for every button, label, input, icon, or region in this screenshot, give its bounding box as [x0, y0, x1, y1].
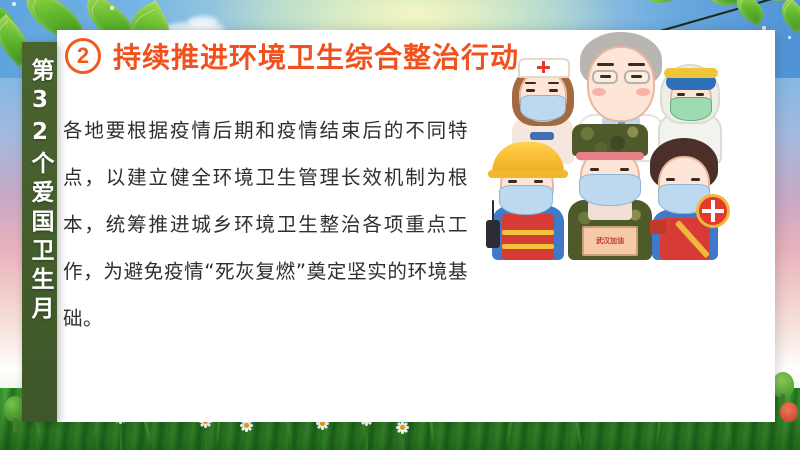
- doctor-eye: [631, 75, 642, 78]
- dew-drop-icon: [788, 36, 791, 39]
- dew-drop-icon: [12, 2, 16, 6]
- face-mask-icon: [579, 174, 641, 206]
- face-mask-icon: [520, 95, 566, 121]
- nurse-brow: [525, 82, 536, 84]
- radio-antenna-icon: [492, 200, 494, 222]
- figure-volunteer: [646, 136, 730, 260]
- worker-vest-stripe: [502, 244, 554, 249]
- stop-paddle-icon: [696, 194, 730, 228]
- volunteer-armband: [650, 220, 666, 234]
- banner-sign: 武汉加油: [582, 226, 638, 256]
- volunteer-eye: [691, 178, 700, 181]
- volunteer-eye: [666, 178, 675, 181]
- doctor-cheek: [636, 88, 650, 96]
- slide: 第32个爱国卫生月 2 持续推进环境卫生综合整治行动 各地要根据疫情后期和疫情结…: [0, 0, 800, 450]
- doctor-cheek: [592, 88, 606, 96]
- leaf-icon: [775, 0, 800, 33]
- worker-eye: [534, 180, 543, 183]
- leaf-icon: [731, 0, 770, 27]
- section-number-badge: 2: [65, 38, 101, 74]
- face-mask-icon: [670, 97, 712, 121]
- soldier-eye: [620, 168, 629, 171]
- dew-drop-icon: [110, 6, 114, 10]
- figure-soldier: 武汉加油: [562, 122, 658, 260]
- body-paragraph: 各地要根据疫情后期和疫情结束后的不同特点，以建立健全环境卫生管理长效机制为根本，…: [63, 107, 468, 342]
- walkie-talkie-icon: [486, 220, 500, 248]
- doctor-eye: [600, 75, 611, 78]
- berry-bush-icon: [780, 402, 798, 422]
- hard-hat-brim-icon: [488, 170, 568, 178]
- worker-eye: [508, 180, 517, 183]
- illustration-masked-characters: 武汉加油: [480, 10, 715, 260]
- tree-icon: [772, 372, 794, 398]
- doctor-head: [587, 46, 655, 122]
- worker-vest-stripe: [502, 230, 554, 235]
- flower-stem-icon: [366, 422, 368, 450]
- section-heading: 2 持续推进环境卫生综合整治行动: [65, 36, 519, 76]
- doctor-brow: [597, 63, 614, 66]
- nurse-eye: [549, 89, 558, 92]
- sidebar-campaign-label: 第32个爱国卫生月: [28, 58, 51, 325]
- worker-eye: [677, 93, 685, 96]
- leaf-icon: [641, 0, 682, 10]
- doctor-brow: [628, 63, 645, 66]
- page-title: 持续推进环境卫生综合整治行动: [113, 36, 519, 76]
- worker-vest: [502, 214, 554, 260]
- flower-stem-icon: [120, 420, 122, 450]
- nurse-brow: [548, 82, 559, 84]
- nurse-eye: [526, 89, 535, 92]
- worker-eye: [696, 93, 704, 96]
- soldier-eye: [590, 168, 599, 171]
- sidebar-campaign-banner: 第32个爱国卫生月: [22, 42, 57, 422]
- figure-construction-worker: [486, 134, 570, 260]
- red-cross-icon: [537, 66, 550, 69]
- face-mask-icon: [499, 185, 553, 215]
- daisy-icon: [396, 421, 409, 434]
- soldier-headband-icon: [576, 152, 644, 160]
- goggles-strap-icon: [664, 68, 718, 78]
